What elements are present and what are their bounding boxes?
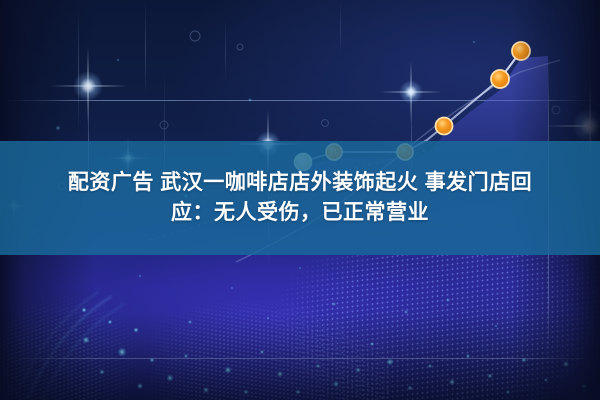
headline-line-2: 应：无人受伤，已正常营业: [20, 198, 580, 228]
headline-line-1: 配资广告 武汉一咖啡店店外装饰起火 事发门店回: [20, 168, 580, 198]
headline-band: 配资广告 武汉一咖啡店店外装饰起火 事发门店回 应：无人受伤，已正常营业: [0, 141, 600, 255]
news-banner-image: 配资广告 武汉一咖啡店店外装饰起火 事发门店回 应：无人受伤，已正常营业: [0, 0, 600, 400]
page-title: 配资广告 武汉一咖啡店店外装饰起火 事发门店回 应：无人受伤，已正常营业: [20, 168, 580, 229]
